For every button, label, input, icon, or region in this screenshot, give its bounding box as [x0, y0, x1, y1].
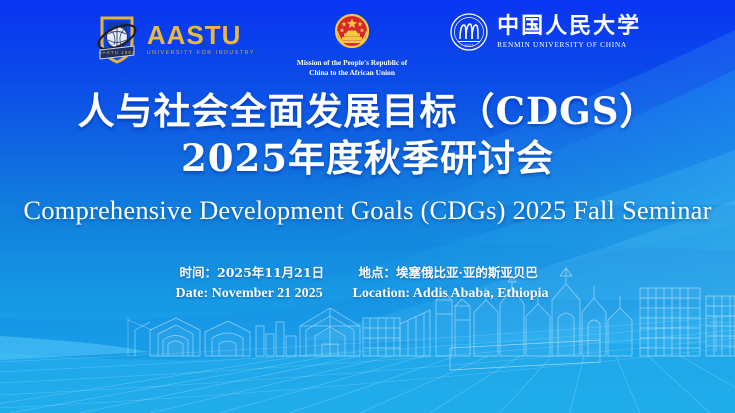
- china-mission-caption-line2: China to the African Union: [309, 68, 395, 77]
- aastu-wordmark: AASTU: [147, 22, 242, 48]
- meta-row-cn: 时间：2025年11月21日 地点：埃塞俄比亚·亚的斯亚贝巴: [0, 262, 735, 281]
- renmin-university-seal-icon: 1937: [449, 12, 489, 52]
- logo-renmin-university: 1937 中国人民大学 RENMIN UNIVERSITY OF CHINA: [449, 12, 641, 52]
- svg-text:AASTU 1993: AASTU 1993: [98, 50, 135, 55]
- title-en: Comprehensive Development Goals (CDGs) 2…: [0, 195, 735, 226]
- aastu-tagline: UNIVERSITY FOR INDUSTRY: [147, 51, 255, 56]
- event-date-en: Date: November 21 2025: [168, 286, 353, 302]
- title-cn-line2: 2025年度秋季研讨会: [0, 135, 735, 182]
- svg-text:1937: 1937: [464, 44, 474, 48]
- event-location-en: Location: Addis Ababa, Ethiopia: [353, 286, 568, 302]
- event-date-cn: 时间：2025年11月21日: [168, 262, 353, 281]
- renmin-name-en: RENMIN UNIVERSITY OF CHINA: [497, 40, 627, 49]
- china-mission-caption-line1: Mission of the People's Republic of: [297, 58, 407, 67]
- title-cn-line1: 人与社会全面发展目标（CDGS）: [0, 88, 735, 135]
- meta-row-en: Date: November 21 2025 Location: Addis A…: [0, 286, 735, 302]
- event-meta-block: 时间：2025年11月21日 地点：埃塞俄比亚·亚的斯亚贝巴 Date: Nov…: [0, 262, 735, 302]
- event-location-cn: 地点：埃塞俄比亚·亚的斯亚贝巴: [353, 262, 568, 281]
- logo-row: AASTU 1993 AASTU UNIVERSITY FOR INDUSTRY: [0, 12, 735, 78]
- logo-aastu: AASTU 1993 AASTU UNIVERSITY FOR INDUSTRY: [94, 12, 255, 66]
- china-mission-caption: Mission of the People's Republic of Chin…: [297, 58, 407, 78]
- china-national-emblem-icon: [331, 12, 373, 54]
- headline-block: 人与社会全面发展目标（CDGS） 2025年度秋季研讨会 Comprehensi…: [0, 88, 735, 226]
- renmin-name-cn: 中国人民大学: [497, 15, 641, 37]
- aastu-shield-globe-icon: AASTU 1993: [94, 12, 140, 66]
- conference-banner: AASTU 1993 AASTU UNIVERSITY FOR INDUSTRY: [0, 0, 735, 413]
- logo-china-mission: Mission of the People's Republic of Chin…: [297, 12, 407, 78]
